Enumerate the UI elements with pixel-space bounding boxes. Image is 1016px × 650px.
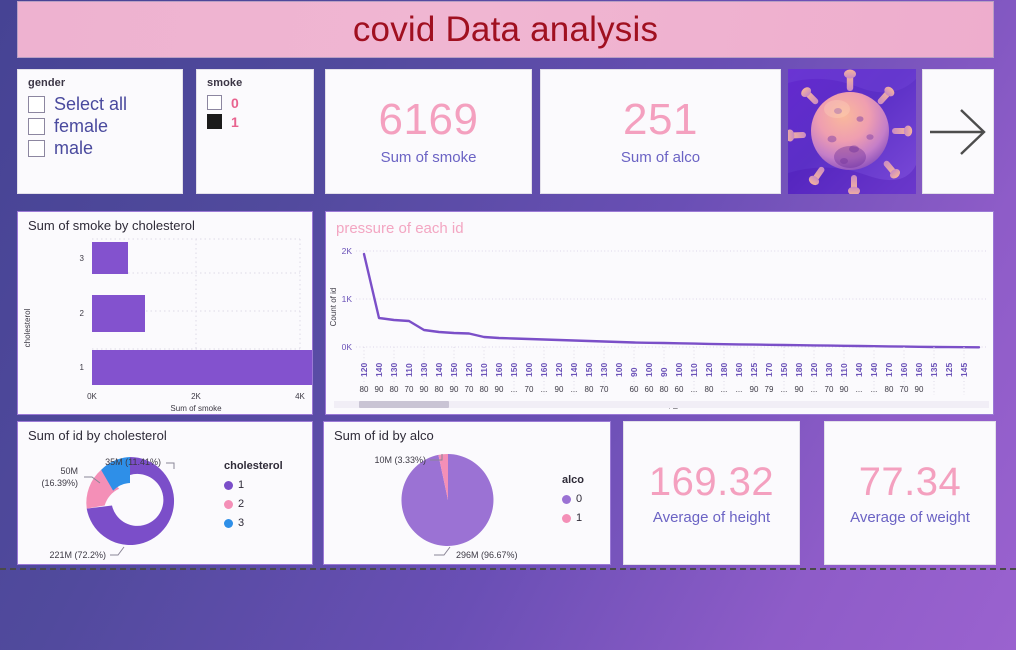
checkbox-icon[interactable] (28, 96, 45, 113)
line-chart-xtick-ap-hi: 160 (899, 363, 909, 377)
line-chart-xtick-ap-lo: ... (811, 385, 818, 394)
line-chart-xtick-ap-lo: 79 (765, 385, 774, 394)
line-chart-xtick-ap-lo: 90 (495, 385, 504, 394)
line-chart-xtick-ap-hi: 120 (359, 363, 369, 377)
line-chart-xtick-ap-hi: 110 (479, 363, 489, 377)
line-chart-plot: 2K 1K 0K Count of id (326, 237, 993, 409)
donut-data-label: 50M (60, 466, 78, 476)
line-chart-xtick-ap-hi: 110 (404, 363, 414, 377)
line-chart-xtick-ap-hi: 100 (524, 363, 534, 377)
line-series-count-of-id (364, 254, 979, 347)
line-chart-xtick-ap-lo: 70 (525, 385, 534, 394)
legend-item[interactable]: 1 (562, 512, 584, 524)
kpi-card-sum-of-smoke[interactable]: 6169 Sum of smoke (325, 69, 532, 194)
line-chart-xtick-ap-hi: 140 (854, 363, 864, 377)
line-chart-xtick-ap-hi: 180 (719, 363, 729, 377)
line-chart-xtick-ap-hi: 150 (509, 363, 519, 377)
page-title: covid Data analysis (353, 10, 658, 50)
legend-item[interactable]: 2 (224, 498, 283, 510)
line-chart-ytick: 0K (342, 342, 353, 352)
legend-swatch-icon (224, 481, 233, 490)
line-chart-xtick-ap-hi: 110 (689, 363, 699, 377)
kpi-card-average-of-height[interactable]: 169.32 Average of height (623, 421, 800, 565)
slicer-option-label: female (54, 117, 108, 135)
coronavirus-illustration (788, 69, 916, 194)
legend-title: alco (562, 474, 584, 486)
line-chart-ytick: 1K (342, 294, 353, 304)
line-chart-xtick-ap-hi: 150 (779, 363, 789, 377)
kpi-card-sum-of-alco[interactable]: 251 Sum of alco (540, 69, 781, 194)
legend-swatch-icon (224, 519, 233, 528)
line-chart-xtick-ap-lo: ... (781, 385, 788, 394)
leader-line (110, 547, 124, 555)
donut-data-label: 35M (11.41%) (105, 457, 161, 467)
line-chart-scrollbar-thumb[interactable] (359, 401, 449, 408)
kpi-label: Sum of alco (621, 149, 700, 166)
checkbox-icon[interactable] (207, 95, 222, 110)
kpi-label: Average of weight (850, 509, 970, 526)
bar-chart-ytick: 3 (80, 254, 85, 263)
slicer-option-label: 1 (231, 115, 239, 129)
line-chart-xtick-ap-hi: 140 (374, 363, 384, 377)
line-chart-xtick-ap-hi: 100 (614, 363, 624, 377)
chart-title: Sum of id by cholesterol (18, 422, 312, 443)
slicer-gender-option-male[interactable]: male (18, 137, 182, 159)
line-chart-xtick-ap-lo: 80 (660, 385, 669, 394)
kpi-card-average-of-weight[interactable]: 77.34 Average of weight (824, 421, 996, 565)
slicer-smoke-option-0[interactable]: 0 (197, 93, 313, 112)
line-chart-xtick-ap-lo: 60 (675, 385, 684, 394)
line-chart-xtick-ap-lo: 80 (360, 385, 369, 394)
line-chart-xtick-ap-lo: 90 (795, 385, 804, 394)
line-chart-xtick-ap-hi: 160 (914, 363, 924, 377)
slicer-smoke-title: smoke (197, 70, 313, 93)
line-chart-xtick-ap-lo: ... (856, 385, 863, 394)
line-chart-xtick-ap-hi: 160 (539, 363, 549, 377)
line-chart-xtick-ap-hi: 130 (419, 363, 429, 377)
bar-chart-y-axis-title: cholesterol (23, 308, 32, 347)
line-chart-xtick-ap-hi: 170 (764, 363, 774, 377)
bar-cholesterol-3 (92, 242, 128, 274)
legend-item[interactable]: 1 (224, 479, 283, 491)
line-chart-xtick-ap-lo: 70 (405, 385, 414, 394)
kpi-label: Sum of smoke (381, 149, 477, 166)
line-chart-xtick-ap-hi: 130 (599, 363, 609, 377)
chart-sum-of-smoke-by-cholesterol[interactable]: Sum of smoke by cholesterol cholesterol … (17, 211, 313, 415)
line-chart-xtick-ap-lo: 70 (600, 385, 609, 394)
line-chart-xtick-ap-lo: ... (691, 385, 698, 394)
legend-label: 1 (238, 479, 244, 491)
line-chart-xtick-ap-lo: 70 (900, 385, 909, 394)
legend-swatch-icon (224, 500, 233, 509)
line-chart-xtick-ap-hi: 180 (794, 363, 804, 377)
line-chart-xtick-ap-lo: 90 (555, 385, 564, 394)
line-chart-xtick-ap-lo: 80 (390, 385, 399, 394)
leader-line (434, 547, 450, 555)
slicer-option-label: Select all (54, 95, 127, 113)
line-chart-xtick-ap-hi: 160 (494, 363, 504, 377)
kpi-label: Average of height (653, 509, 770, 526)
pie-data-label: 10M (3.33%) (374, 455, 426, 465)
coronavirus-image-card (788, 69, 916, 194)
donut-data-label: (16.39%) (41, 478, 78, 488)
bar-chart-xtick: 4K (295, 392, 305, 401)
bar-cholesterol-2 (92, 295, 145, 332)
line-chart-xtick-ap-lo: ... (871, 385, 878, 394)
chart-sum-of-id-by-alco[interactable]: Sum of id by alco 10M (3.33%) 296M (96.6… (323, 421, 611, 565)
slicer-option-label: 0 (231, 96, 239, 110)
line-chart-xtick-ap-hi: 90 (629, 367, 639, 377)
line-chart-xtick-ap-lo: 90 (840, 385, 849, 394)
legend-swatch-icon (562, 495, 571, 504)
legend-label: 3 (238, 517, 244, 529)
kpi-value: 6169 (379, 97, 479, 143)
donut-data-label: 221M (72.2%) (49, 550, 106, 560)
line-chart-xtick-ap-hi: 125 (944, 363, 954, 377)
line-chart-xtick-ap-lo: 80 (585, 385, 594, 394)
page-title-banner: covid Data analysis (17, 1, 994, 58)
line-chart-xtick-ap-hi: 140 (869, 363, 879, 377)
kpi-value: 251 (623, 97, 698, 143)
line-chart-xtick-ap-lo: 80 (705, 385, 714, 394)
next-page-button[interactable] (922, 69, 994, 194)
line-chart-xtick-ap-lo: 70 (825, 385, 834, 394)
pie-legend: alco 0 1 (562, 474, 584, 524)
legend-item[interactable]: 3 (224, 517, 283, 529)
line-chart-xtick-ap-lo: ... (736, 385, 743, 394)
line-chart-xtick-ap-hi: 100 (674, 363, 684, 377)
legend-title: cholesterol (224, 460, 283, 472)
checkbox-icon[interactable] (28, 140, 45, 157)
line-chart-xtick-ap-lo: ... (571, 385, 578, 394)
line-chart-xtick-ap-lo: ... (721, 385, 728, 394)
line-chart-xtick-ap-hi: 140 (434, 363, 444, 377)
line-chart-xtick-ap-hi: 150 (449, 363, 459, 377)
line-chart-xtick-ap-hi: 140 (569, 363, 579, 377)
chart-pressure-of-each-id[interactable]: pressure of each id 2K 1K 0K Count of id (325, 211, 994, 415)
slicer-gender-title: gender (18, 70, 182, 93)
legend-swatch-icon (562, 514, 571, 523)
line-chart-xtick-ap-hi: 145 (959, 363, 969, 377)
slicer-smoke-option-1[interactable]: 1 (197, 112, 313, 131)
report-canvas: covid Data analysis gender Select all fe… (0, 0, 1016, 570)
legend-label: 0 (576, 493, 582, 505)
slicer-gender-option-select-all[interactable]: Select all (18, 93, 182, 115)
line-chart-xtick-ap-hi: 120 (554, 363, 564, 377)
slicer-gender[interactable]: gender Select all female male (17, 69, 183, 194)
slicer-option-label: male (54, 139, 93, 157)
line-chart-xtick-ap-lo: 80 (480, 385, 489, 394)
line-chart-xtick-ap-lo: ... (511, 385, 518, 394)
line-chart-xtick-ap-hi: 170 (884, 363, 894, 377)
line-chart-xtick-ap-lo: 90 (750, 385, 759, 394)
pie-data-label: 296M (96.67%) (456, 550, 518, 560)
line-chart-xtick-ap-lo: 70 (465, 385, 474, 394)
bar-cholesterol-1 (92, 350, 312, 385)
chart-title: pressure of each id (326, 212, 993, 237)
line-chart-xtick-ap-hi: 90 (659, 367, 669, 377)
line-chart-xtick-ap-lo: 80 (885, 385, 894, 394)
donut-legend: cholesterol 1 2 3 (224, 460, 283, 529)
checkbox-checked-icon[interactable] (207, 114, 222, 129)
line-chart-y-axis-title: Count of id (329, 288, 338, 327)
line-chart-xtick-ap-lo: 90 (375, 385, 384, 394)
kpi-value: 77.34 (859, 461, 962, 503)
bar-chart-plot: cholesterol 3 2 1 0K 2K 4K Sum of smoke (18, 233, 312, 415)
checkbox-icon[interactable] (28, 118, 45, 135)
line-chart-xtick-ap-hi: 120 (704, 363, 714, 377)
line-chart-xtick-ap-hi: 160 (734, 363, 744, 377)
line-chart-xtick-ap-hi: 130 (389, 363, 399, 377)
line-chart-xtick-ap-hi: 110 (839, 363, 849, 377)
line-chart-xtick-ap-lo: 90 (915, 385, 924, 394)
line-chart-xtick-ap-lo: ... (541, 385, 548, 394)
arrow-right-icon[interactable] (926, 103, 990, 161)
line-chart-xtick-ap-hi: 150 (584, 363, 594, 377)
bar-chart-ytick: 2 (80, 309, 85, 318)
line-chart-xtick-ap-hi: 135 (929, 363, 939, 377)
bar-chart-xtick: 2K (191, 392, 201, 401)
kpi-value: 169.32 (649, 461, 774, 503)
line-chart-xtick-ap-lo: 80 (435, 385, 444, 394)
chart-title: Sum of smoke by cholesterol (18, 212, 312, 233)
line-chart-xtick-ap-lo: 60 (645, 385, 654, 394)
bar-chart-ytick: 1 (80, 363, 85, 372)
line-chart-xtick-ap-hi: 120 (809, 363, 819, 377)
slicer-gender-option-female[interactable]: female (18, 115, 182, 137)
chart-title: Sum of id by alco (324, 422, 610, 443)
line-chart-xtick-ap-lo: 60 (630, 385, 639, 394)
line-chart-xtick-ap-hi: 130 (824, 363, 834, 377)
line-chart-xtick-ap-hi: 120 (464, 363, 474, 377)
bar-chart-x-axis-title: Sum of smoke (170, 404, 222, 413)
chart-sum-of-id-by-cholesterol[interactable]: Sum of id by cholesterol 35M (11.41%) 50… (17, 421, 313, 565)
line-chart-xtick-ap-hi: 125 (749, 363, 759, 377)
legend-label: 2 (238, 498, 244, 510)
legend-label: 1 (576, 512, 582, 524)
bar-chart-xtick: 0K (87, 392, 97, 401)
line-chart-xtick-ap-hi: 100 (644, 363, 654, 377)
line-chart-xtick-ap-lo: 90 (420, 385, 429, 394)
line-chart-ytick: 2K (342, 246, 353, 256)
slicer-smoke[interactable]: smoke 0 1 (196, 69, 314, 194)
legend-item[interactable]: 0 (562, 493, 584, 505)
leader-line (166, 463, 174, 469)
line-chart-xtick-ap-lo: 90 (450, 385, 459, 394)
